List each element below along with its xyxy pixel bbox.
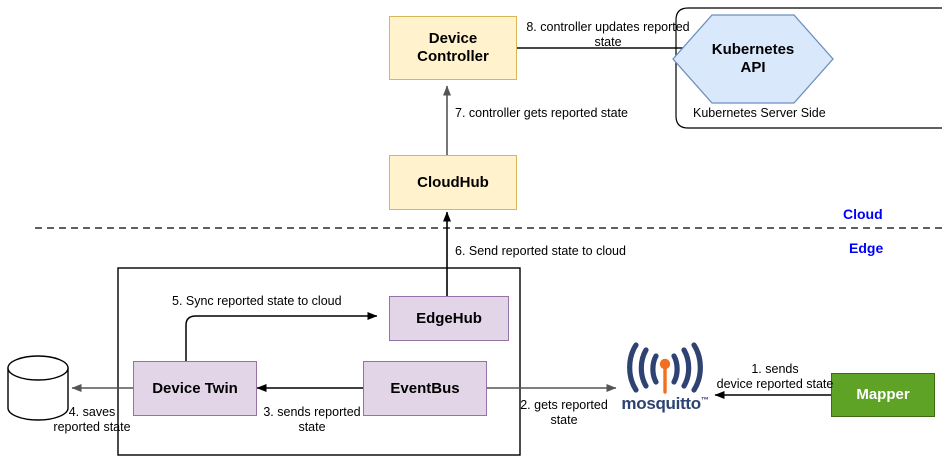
mosquitto-wordmark-text: mosquitto bbox=[621, 394, 700, 413]
edge-label-step-1: 1. sends device reported state bbox=[715, 362, 835, 392]
edge-label-step-4: 4. saves reported state bbox=[41, 405, 143, 435]
mosquitto-icon bbox=[630, 345, 701, 392]
edge-label-step-6: 6. Send reported state to cloud bbox=[455, 244, 675, 259]
mosquitto-wordmark: mosquitto™ bbox=[613, 394, 717, 414]
zone-label-edge: Edge bbox=[849, 240, 883, 256]
edge-label-step-8: 8. controller updates reported state bbox=[520, 20, 696, 50]
edge-label-step-3: 3. sends reported state bbox=[254, 405, 370, 435]
edge-label-step-2: 2. gets reported state bbox=[509, 398, 619, 428]
node-mapper-label: Mapper bbox=[856, 386, 909, 404]
node-cloudhub-label: CloudHub bbox=[417, 174, 489, 192]
node-device-controller-label: Device Controller bbox=[417, 30, 489, 66]
kubernetes-server-side-label: Kubernetes Server Side bbox=[693, 106, 826, 120]
edge-label-step-5: 5. Sync reported state to cloud bbox=[172, 294, 382, 309]
node-kubernetes-api[interactable]: Kubernetes API bbox=[673, 15, 833, 103]
node-edgehub[interactable]: EdgeHub bbox=[389, 296, 509, 341]
mosquitto-trademark: ™ bbox=[701, 395, 709, 404]
node-device-twin-label: Device Twin bbox=[152, 380, 238, 398]
node-mapper[interactable]: Mapper bbox=[831, 373, 935, 417]
node-device-controller[interactable]: Device Controller bbox=[389, 16, 517, 80]
node-edgehub-label: EdgeHub bbox=[416, 310, 482, 328]
node-eventbus[interactable]: EventBus bbox=[363, 361, 487, 416]
node-kubernetes-api-label: Kubernetes API bbox=[712, 41, 795, 77]
node-device-twin[interactable]: Device Twin bbox=[133, 361, 257, 416]
diagram-canvas: Device Controller Kubernetes API Kuberne… bbox=[0, 0, 942, 461]
zone-label-cloud: Cloud bbox=[843, 206, 883, 222]
edge-label-step-7: 7. controller gets reported state bbox=[455, 106, 655, 121]
node-eventbus-label: EventBus bbox=[390, 380, 459, 398]
node-cloudhub[interactable]: CloudHub bbox=[389, 155, 517, 210]
